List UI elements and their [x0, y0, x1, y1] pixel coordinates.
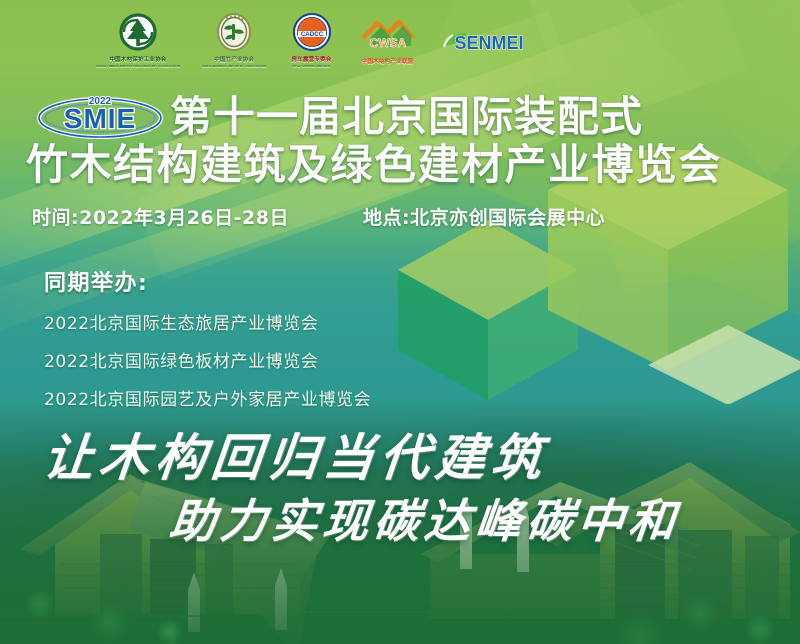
- concurrent-events-heading: 同期举办:: [44, 265, 371, 297]
- concurrent-event-item: 2022北京国际绿色板材产业博览会: [44, 347, 371, 372]
- sponsor-logo-row: 中国木材保护工业协会 CHINA TIMBER PROTECTION INDUS…: [0, 6, 800, 74]
- sponsor-logo-cwsa-wood-structure[interactable]: CWSA 中国木结构产业联盟: [357, 16, 419, 65]
- concurrent-event-item: 2022北京国际园艺及户外家居产业博览会: [44, 385, 371, 410]
- smie-badge[interactable]: 2022 SMIE: [36, 92, 164, 140]
- headline-line-1: 第十一届北京国际装配式: [170, 94, 643, 140]
- exhibition-poster: 中国木材保护工业协会 CHINA TIMBER PROTECTION INDUS…: [0, 0, 800, 644]
- sponsor-logo-name: 中国木材保护工业协会: [109, 55, 166, 63]
- svg-text:CADCC: CADCC: [300, 31, 323, 38]
- sponsor-logo-senmei[interactable]: SENMEI: [441, 23, 527, 57]
- sponsor-logo-subtitle: RV & CAMPING BRANCH: [293, 64, 331, 68]
- event-meta: 时间:2022年3月26日-28日 地点:北京亦创国际会展中心: [32, 203, 605, 230]
- svg-text:SENMEI: SENMEI: [454, 33, 523, 53]
- slogan-line-2: 助力实现碳达峰碳中和: [167, 485, 684, 551]
- house-roof-cwsa-icon: CWSA: [357, 16, 419, 56]
- sponsor-logo-subtitle: CHINA TIMBER PROTECTION INDUSTRY ASSOCIA…: [96, 64, 180, 68]
- concurrent-events: 同期举办: 2022北京国际生态旅居产业博览会 2022北京国际绿色板材产业博览…: [44, 265, 371, 423]
- event-venue: 地点:北京亦创国际会展中心: [363, 203, 605, 230]
- cadcc-roundel-icon: CADCC: [289, 12, 335, 54]
- bamboo-oval-emblem-icon: [211, 12, 257, 54]
- headline-line-2: 竹木结构建筑及绿色建材产业博览会: [26, 142, 722, 188]
- smie-acronym: SMIE: [64, 103, 136, 134]
- slogan-line-1: 让木构回归当代建筑: [40, 418, 552, 490]
- sponsor-logo-name: 中国木结构产业联盟: [362, 57, 413, 65]
- leaf-wordmark-icon: SENMEI: [441, 23, 527, 57]
- pine-tree-emblem-icon: [115, 12, 161, 54]
- concurrent-event-item: 2022北京国际生态旅居产业博览会: [44, 309, 371, 334]
- sponsor-logo-china-timber-protection[interactable]: 中国木材保护工业协会 CHINA TIMBER PROTECTION INDUS…: [96, 12, 180, 68]
- svg-text:CWSA: CWSA: [369, 36, 406, 50]
- event-date: 时间:2022年3月26日-28日: [32, 203, 289, 230]
- sponsor-logo-bamboo-association[interactable]: 中国竹产业协会 CHINA BAMBOO INDUSTRY ASSOCIATIO…: [202, 12, 267, 68]
- sponsor-logo-name: 中国竹产业协会: [214, 55, 254, 63]
- sponsor-logo-name: 房车露营专委会: [292, 55, 332, 63]
- sponsor-logo-cadcc-rv-camping[interactable]: CADCC 房车露营专委会 RV & CAMPING BRANCH: [289, 12, 335, 68]
- sponsor-logo-subtitle: CHINA BAMBOO INDUSTRY ASSOCIATION: [202, 64, 267, 68]
